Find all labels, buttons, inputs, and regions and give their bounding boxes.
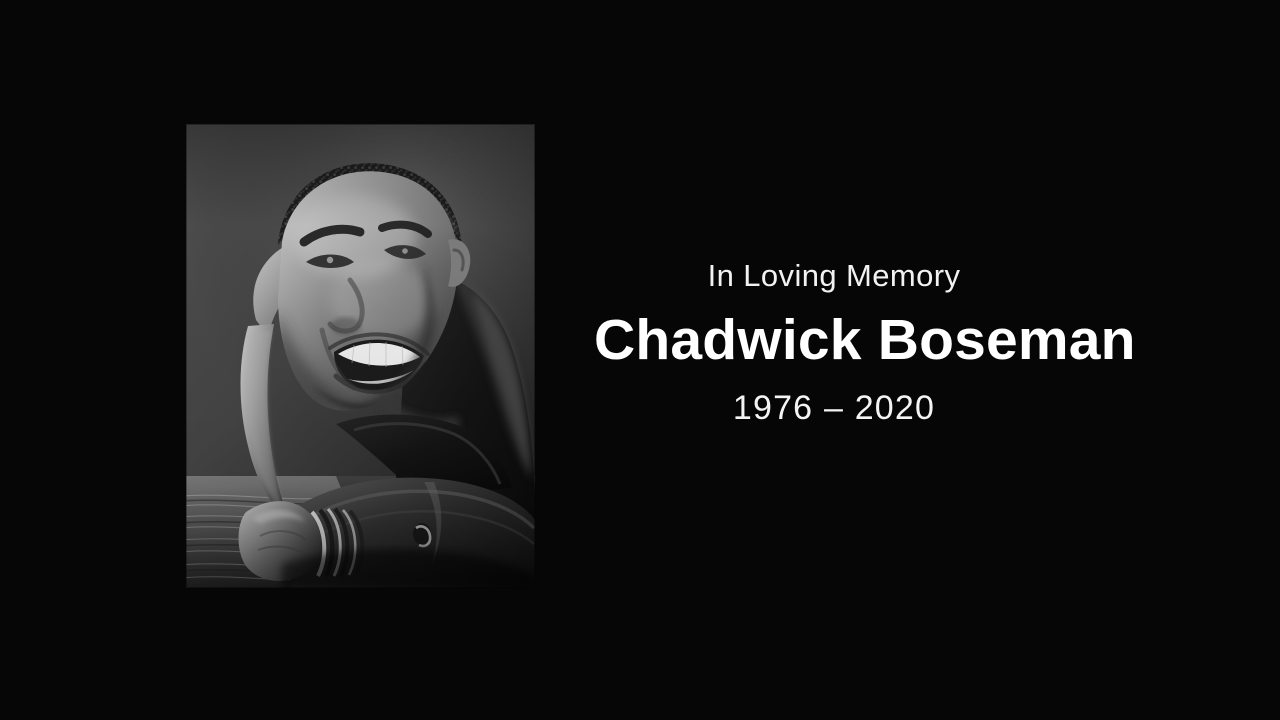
memorial-slide: In Loving Memory Chadwick Boseman 1976 –… [0,0,1280,720]
memorial-text-block: In Loving Memory Chadwick Boseman 1976 –… [594,256,1074,430]
memorial-dates: 1976 – 2020 [594,386,1074,430]
in-loving-memory-label: In Loving Memory [594,256,1074,296]
portrait-illustration [186,124,535,588]
memorial-portrait-photo [186,124,535,588]
memorial-name: Chadwick Boseman [594,305,1074,375]
